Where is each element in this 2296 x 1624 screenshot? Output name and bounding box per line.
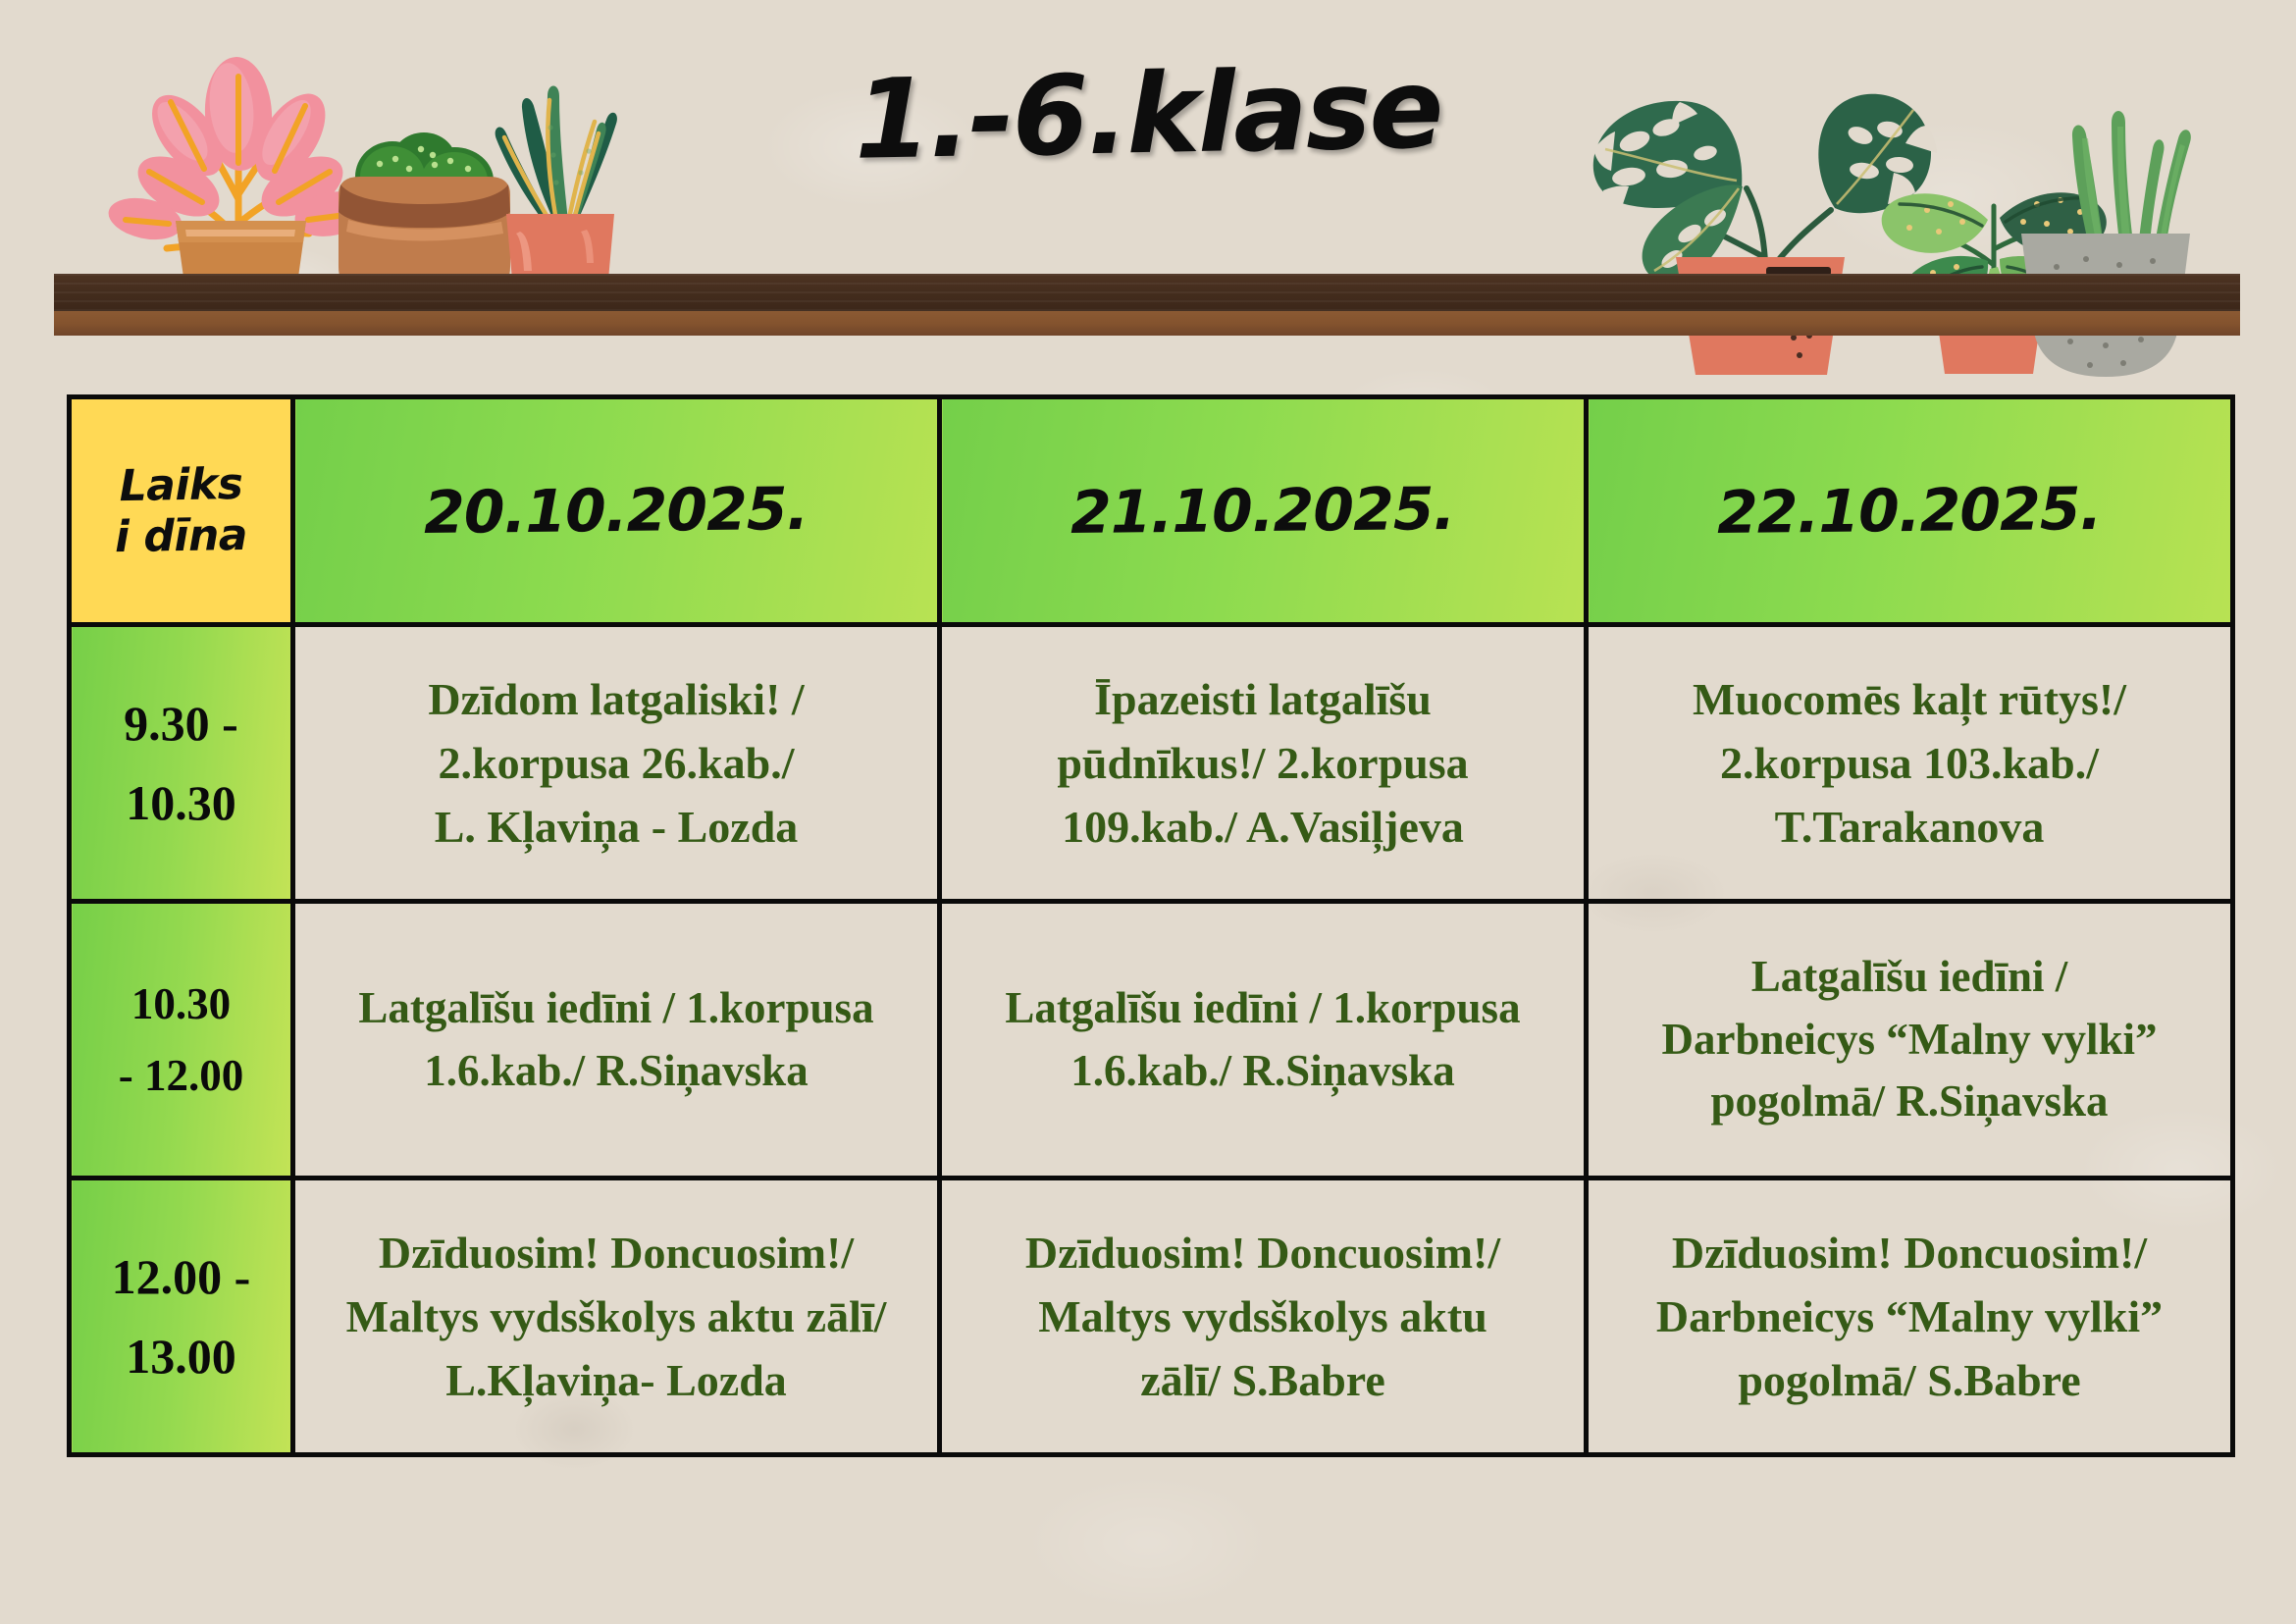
header-date-2: 21.10.2025. [1070,474,1455,547]
activity-line: Dzīdom latgaliski! / [295,667,937,731]
header-date-3: 22.10.2025. [1717,474,2102,547]
activity-cell-r1c3: Muocomēs kaļt rūtys!/ 2.korpusa 103.kab.… [1587,625,2233,902]
table-row: 10.30 - 12.00 Latgalīšu iedīni / 1.korpu… [70,902,2233,1179]
time-slot-1-line2: 10.30 [72,763,290,843]
activity-cell-r3c1: Dzīduosim! Doncuosim!/ Maltys vydsškolys… [293,1179,940,1455]
time-slot-3-line2: 13.00 [72,1317,290,1396]
activity-line: pūdnīkus!/ 2.korpusa [942,731,1584,795]
table-row: 12.00 - 13.00 Dzīduosim! Doncuosim!/ Mal… [70,1179,2233,1455]
activity-line: pogolmā/ S.Babre [1589,1348,2230,1412]
activity-line: 2.korpusa 103.kab./ [1589,731,2230,795]
time-slot-1: 9.30 - 10.30 [70,625,293,902]
time-slot-3: 12.00 - 13.00 [70,1179,293,1455]
activity-cell-r1c1: Dzīdom latgaliski! / 2.korpusa 26.kab./ … [293,625,940,902]
activity-line: L. Kļaviņa - Lozda [295,795,937,859]
activity-line: Darbneicys “Malny vylki” [1589,1009,2230,1072]
header-day-2: 21.10.2025. [940,397,1587,625]
time-slot-2-line2: - 12.00 [72,1040,290,1112]
activity-cell-r2c3: Latgalīšu iedīni / Darbneicys “Malny vyl… [1587,902,2233,1179]
shelf-grain [54,274,2240,311]
activity-line: Latgalīšu iedīni / 1.korpusa [942,977,1584,1040]
time-slot-1-line1: 9.30 - [72,684,290,763]
activity-line: zālī/ S.Babre [942,1348,1584,1412]
activity-line: Īpazeisti latgalīšu [942,667,1584,731]
time-slot-3-line1: 12.00 - [72,1237,290,1317]
activity-line: pogolmā/ R.Siņavska [1589,1071,2230,1133]
activity-line: Dzīduosim! Doncuosim!/ [1589,1221,2230,1284]
activity-line: T.Tarakanova [1589,795,2230,859]
activity-cell-r2c2: Latgalīšu iedīni / 1.korpusa 1.6.kab./ R… [940,902,1587,1179]
header-time-label-line2: i dīna [72,509,291,564]
table-header-row: Laiks i dīna 20.10.2025. 21.10.2025. 22.… [70,397,2233,625]
activity-line: L.Kļaviņa- Lozda [295,1348,937,1412]
header-time-cell: Laiks i dīna [70,397,293,625]
time-slot-2: 10.30 - 12.00 [70,902,293,1179]
schedule-table: Laiks i dīna 20.10.2025. 21.10.2025. 22.… [67,394,2235,1457]
activity-line: Latgalīšu iedīni / 1.korpusa [295,977,937,1040]
header-day-1: 20.10.2025. [293,397,940,625]
activity-line: 2.korpusa 26.kab./ [295,731,937,795]
activity-cell-r3c3: Dzīduosim! Doncuosim!/ Darbneicys “Malny… [1587,1179,2233,1455]
header-day-3: 22.10.2025. [1587,397,2233,625]
header-date-1: 20.10.2025. [424,474,809,547]
activity-cell-r2c1: Latgalīšu iedīni / 1.korpusa 1.6.kab./ R… [293,902,940,1179]
activity-line: Latgalīšu iedīni / [1589,946,2230,1009]
activity-line: Maltys vydsškolys aktu [942,1284,1584,1348]
time-slot-2-line1: 10.30 [72,969,290,1040]
activity-line: Maltys vydsškolys aktu zālī/ [295,1284,937,1348]
activity-line: Muocomēs kaļt rūtys!/ [1589,667,2230,731]
activity-cell-r1c2: Īpazeisti latgalīšu pūdnīkus!/ 2.korpusa… [940,625,1587,902]
table-row: 9.30 - 10.30 Dzīdom latgaliski! / 2.korp… [70,625,2233,902]
header-time-label-line1: Laiks [72,458,291,513]
shelf-front-face [54,311,2240,336]
activity-line: Dzīduosim! Doncuosim!/ [942,1221,1584,1284]
activity-line: Darbneicys “Malny vylki” [1589,1284,2230,1348]
activity-line: 1.6.kab./ R.Siņavska [295,1040,937,1103]
wooden-shelf [54,274,2240,336]
activity-line: 109.kab./ A.Vasiļjeva [942,795,1584,859]
activity-cell-r3c2: Dzīduosim! Doncuosim!/ Maltys vydsškolys… [940,1179,1587,1455]
activity-line: Dzīduosim! Doncuosim!/ [295,1221,937,1284]
activity-line: 1.6.kab./ R.Siņavska [942,1040,1584,1103]
